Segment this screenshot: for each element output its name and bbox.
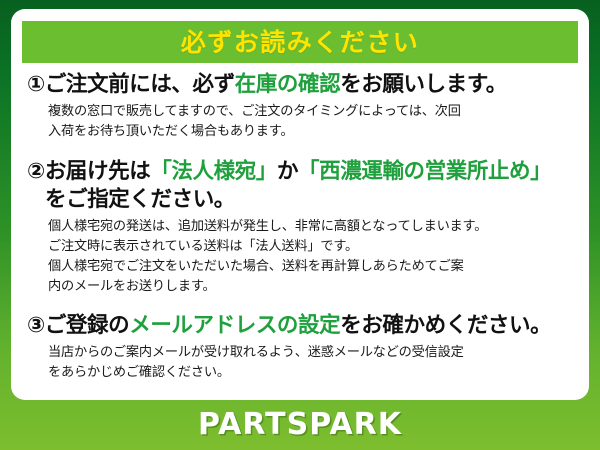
item-3-heading-part-0: ご登録の: [45, 313, 129, 338]
title-banner: 必ずお読みください: [22, 21, 578, 63]
item-2-body-line-1: 個人様宅宛の発送は、追加送料が発生し、非常に高額となってしまいます。: [48, 217, 583, 237]
banner-title: 必ずお読みください: [181, 30, 420, 55]
item-1-body-line-2: 入荷をお待ち頂いただく場合もあります。: [48, 122, 583, 142]
footer-bar: PARTSPARK: [0, 400, 600, 450]
item-2-heading-part-2: か: [277, 159, 298, 184]
brand-logo-text: PARTSPARK: [198, 410, 402, 440]
item-3-heading: ③ご登録のメールアドレスの設定をお確かめください。: [17, 312, 583, 340]
item-2-heading: ②お届け先は「法人様宛」か「西濃運輸の営業所止め」: [17, 158, 583, 186]
notice-item-2: ②お届け先は「法人様宛」か「西濃運輸の営業所止め」 をご指定ください。 個人様宅…: [11, 158, 589, 298]
item-3-heading-highlight: メールアドレスの設定: [129, 313, 340, 338]
item-1-heading: ①ご注文前には、必ず在庫の確認をお願いします。: [17, 71, 583, 99]
item-3-body-line-1: 当店からのご案内メールが受け取れるよう、迷惑メールなどの受信設定: [48, 343, 583, 363]
item-3-heading-part-2: をお確かめください。: [340, 313, 551, 338]
item-1-body-line-1: 複数の窓口で販売してますので、ご注文のタイミングによっては、次回: [48, 102, 583, 122]
notice-item-3: ③ご登録のメールアドレスの設定をお確かめください。 当店からのご案内メールが受け…: [11, 312, 589, 384]
item-2-body-line-3: 個人様宅宛でご注文をいただいた場合、送料を再計算しあらためてご案: [48, 257, 583, 277]
item-3-marker: ③: [27, 313, 45, 338]
notice-panel: 必ずお読みください ①ご注文前には、必ず在庫の確認をお願いします。 複数の窓口で…: [11, 9, 589, 400]
spacer-1: [11, 143, 589, 158]
item-2-body-line-4: 内のメールをお送りします。: [48, 277, 583, 297]
item-2-heading-highlight-2: 「西濃運輸の営業所止め」: [298, 159, 551, 184]
item-2-body-line-2: ご注文時に表示されている送料は「法人送料」です。: [48, 237, 583, 257]
item-2-body: 個人様宅宛の発送は、追加送料が発生し、非常に高額となってしまいます。 ご注文時に…: [17, 214, 583, 297]
notice-item-1: ①ご注文前には、必ず在庫の確認をお願いします。 複数の窓口で販売してますので、ご…: [11, 71, 589, 143]
item-1-heading-part-2: をお願いします。: [340, 72, 507, 97]
item-3-body-line-2: をあらかじめご確認ください。: [48, 363, 583, 383]
item-1-heading-part-0: ご注文前には、必ず: [45, 72, 235, 97]
item-1-body: 複数の窓口で販売してますので、ご注文のタイミングによっては、次回 入荷をお待ち頂…: [17, 99, 583, 142]
item-2-marker: ②: [27, 159, 45, 184]
spacer-2: [11, 298, 589, 312]
item-2-heading-part-0: お届け先は: [45, 159, 151, 184]
item-1-heading-highlight: 在庫の確認: [235, 72, 341, 97]
item-2-heading-line2: をご指定ください。: [17, 186, 583, 214]
item-2-heading-highlight-1: 「法人様宛」: [150, 159, 277, 184]
notice-content: ①ご注文前には、必ず在庫の確認をお願いします。 複数の窓口で販売してますので、ご…: [11, 71, 589, 383]
notice-frame: 必ずお読みください ①ご注文前には、必ず在庫の確認をお願いします。 複数の窓口で…: [0, 0, 600, 450]
item-3-body: 当店からのご案内メールが受け取れるよう、迷惑メールなどの受信設定 をあらかじめご…: [17, 340, 583, 383]
item-1-marker: ①: [27, 72, 45, 97]
